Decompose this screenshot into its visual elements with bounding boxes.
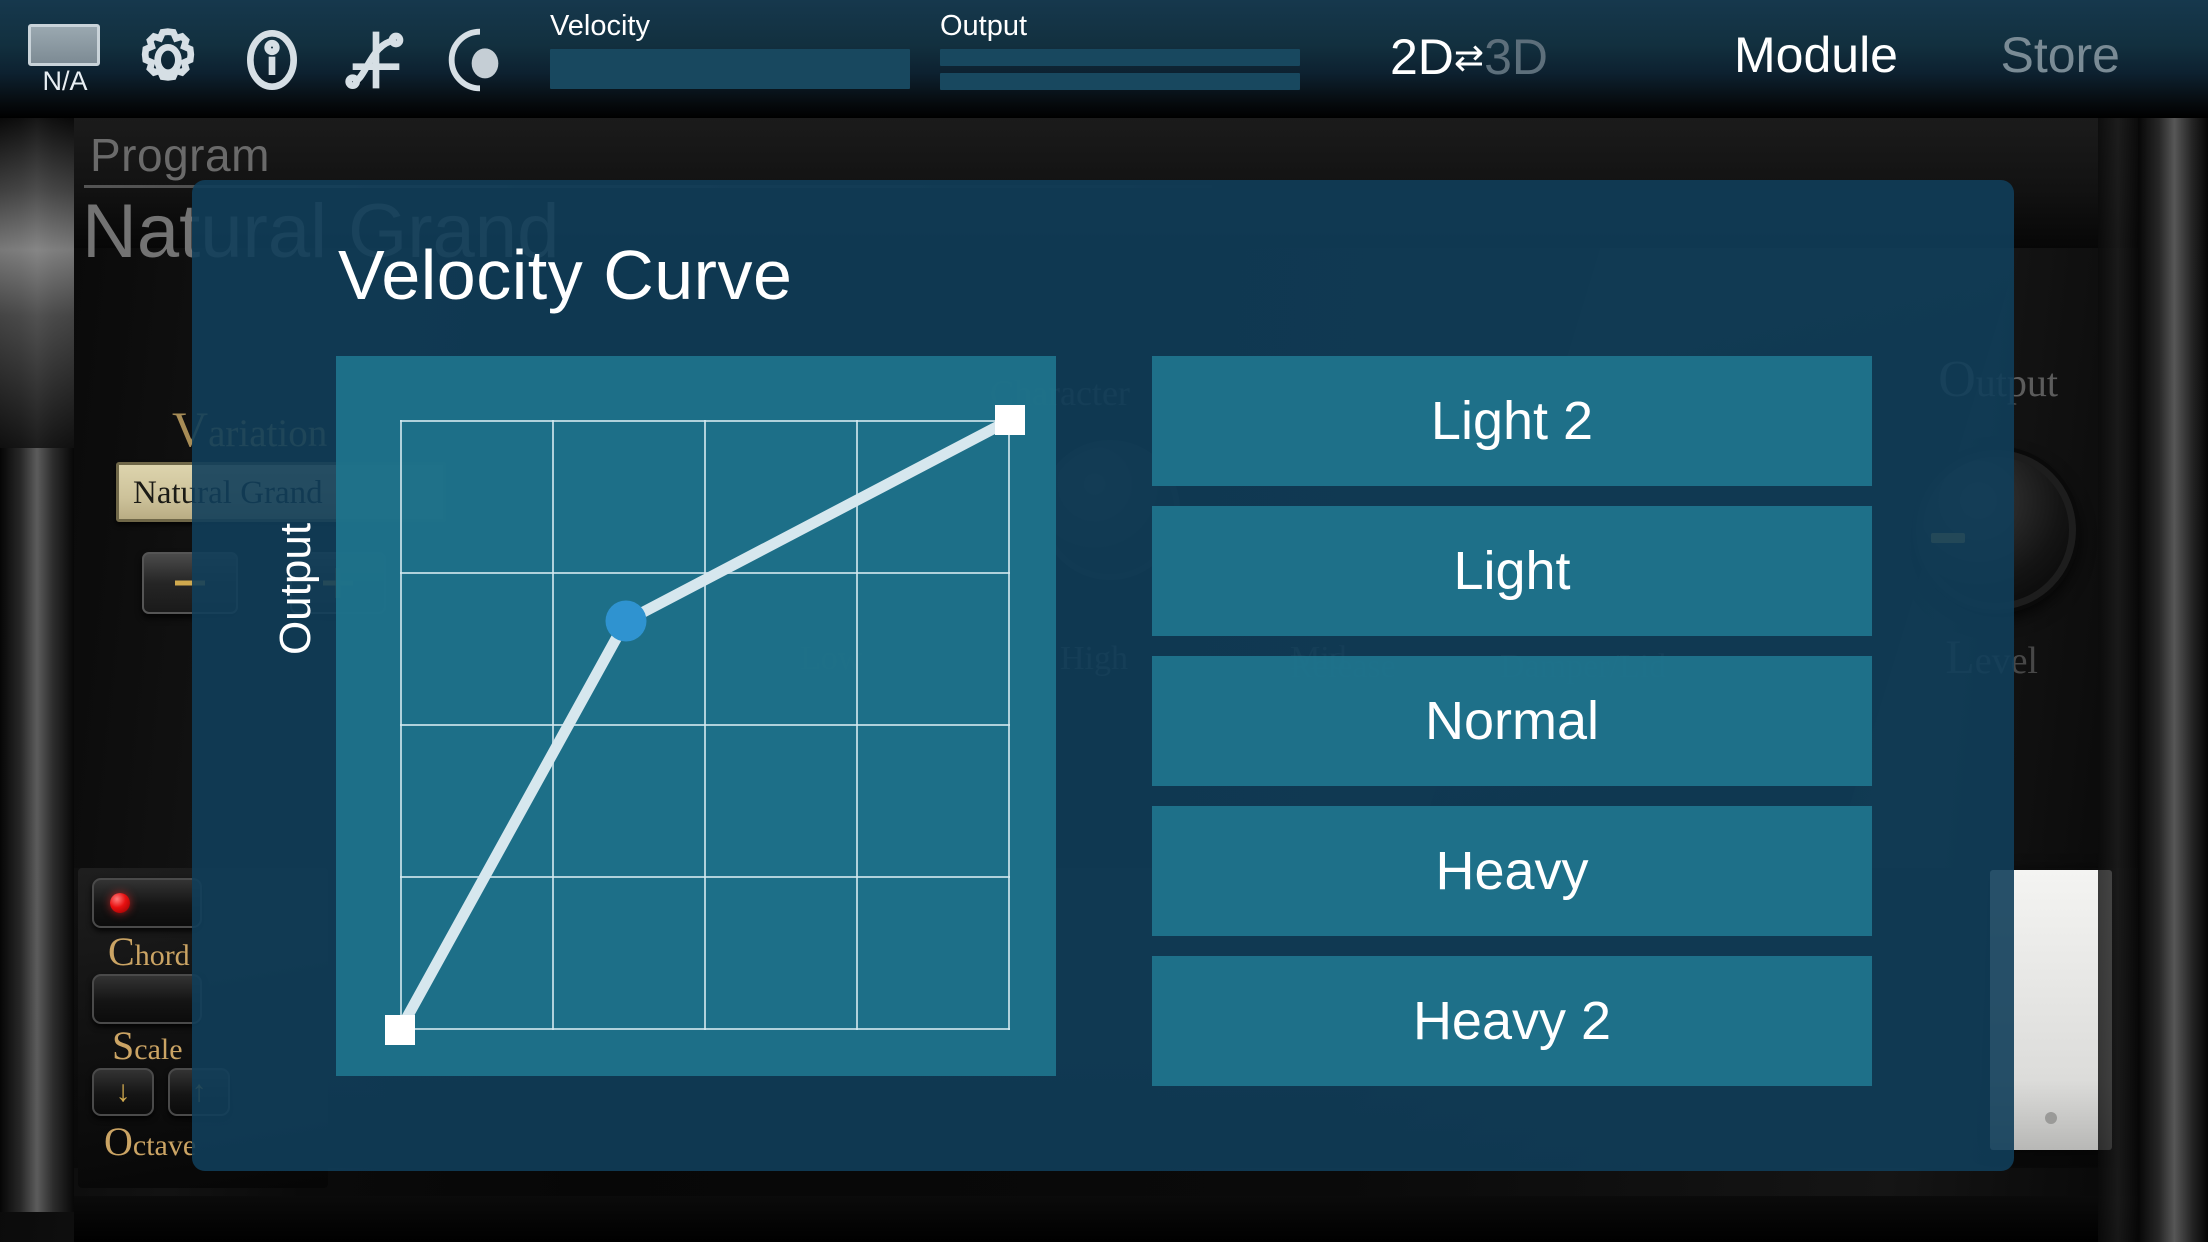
right-rail <box>2138 118 2208 1242</box>
graph-plot-area[interactable] <box>400 420 1010 1030</box>
velocity-meter: Velocity <box>550 10 910 96</box>
output-meter: Output <box>940 10 1300 97</box>
velocity-curve-graph[interactable]: Output Input <box>336 356 1056 1076</box>
keyboard-strip <box>74 1196 2138 1242</box>
curve-handle-end[interactable] <box>995 405 1025 435</box>
view-mode-toggle[interactable]: 2D⇄3D <box>1390 28 1548 86</box>
nav-module[interactable]: Module <box>1734 26 1898 84</box>
app-root: Program Natural Grand Variation Natural … <box>0 0 2208 1242</box>
curve-icon[interactable] <box>336 20 416 105</box>
preset-list: Light 2 Light Normal Heavy Heavy 2 <box>1152 356 1872 1106</box>
preset-light[interactable]: Light <box>1152 506 1872 636</box>
velocity-curve-dialog: Velocity Curve Output Input <box>192 180 2014 1171</box>
output-meter-bar-left <box>940 49 1300 66</box>
preset-light-2[interactable]: Light 2 <box>1152 356 1872 486</box>
chord-label-cap: C <box>108 929 135 974</box>
program-label: Program <box>90 128 270 182</box>
left-rail-highlight <box>0 118 74 448</box>
preset-normal[interactable]: Normal <box>1152 656 1872 786</box>
velocity-meter-bar <box>550 49 910 89</box>
octave-label-rest: ctave <box>133 1129 196 1162</box>
output-meter-label: Output <box>940 10 1300 43</box>
preset-heavy[interactable]: Heavy <box>1152 806 1872 936</box>
device-status-label: N/A <box>30 66 100 97</box>
scale-label-cap: S <box>112 1023 134 1068</box>
curve-handle-start[interactable] <box>385 1015 415 1045</box>
axis-label-output: Output <box>271 523 321 655</box>
chord-label-rest: hord <box>135 939 190 972</box>
nav-store[interactable]: Store <box>2000 26 2120 84</box>
output-meter-bar-right <box>940 73 1300 90</box>
scale-label: Scale <box>112 1022 183 1069</box>
view-mode-3d-label[interactable]: 3D <box>1484 29 1548 85</box>
swap-arrows-icon: ⇄ <box>1454 37 1484 78</box>
screen-icon[interactable] <box>28 24 100 66</box>
velocity-curve-line <box>400 420 1010 1030</box>
info-icon[interactable] <box>232 20 312 105</box>
velocity-meter-label: Velocity <box>550 10 910 43</box>
chord-led-icon <box>110 893 130 913</box>
chord-label: Chord <box>108 928 190 975</box>
octave-down-button[interactable]: ↓ <box>92 1068 154 1116</box>
right-rail-inner <box>2098 118 2138 1242</box>
chord-button[interactable] <box>92 878 202 928</box>
top-toolbar: N/A <box>0 0 2208 118</box>
octave-label: Octave <box>104 1118 196 1165</box>
scale-label-rest: cale <box>134 1033 182 1066</box>
gear-icon[interactable] <box>128 20 208 105</box>
wheel-icon[interactable] <box>440 20 520 105</box>
dialog-title: Velocity Curve <box>338 235 792 315</box>
view-mode-2d-label[interactable]: 2D <box>1390 29 1454 85</box>
curve-handle-mid[interactable] <box>605 601 646 642</box>
preset-heavy-2[interactable]: Heavy 2 <box>1152 956 1872 1086</box>
octave-label-cap: O <box>104 1119 133 1164</box>
scale-button[interactable] <box>92 974 202 1024</box>
